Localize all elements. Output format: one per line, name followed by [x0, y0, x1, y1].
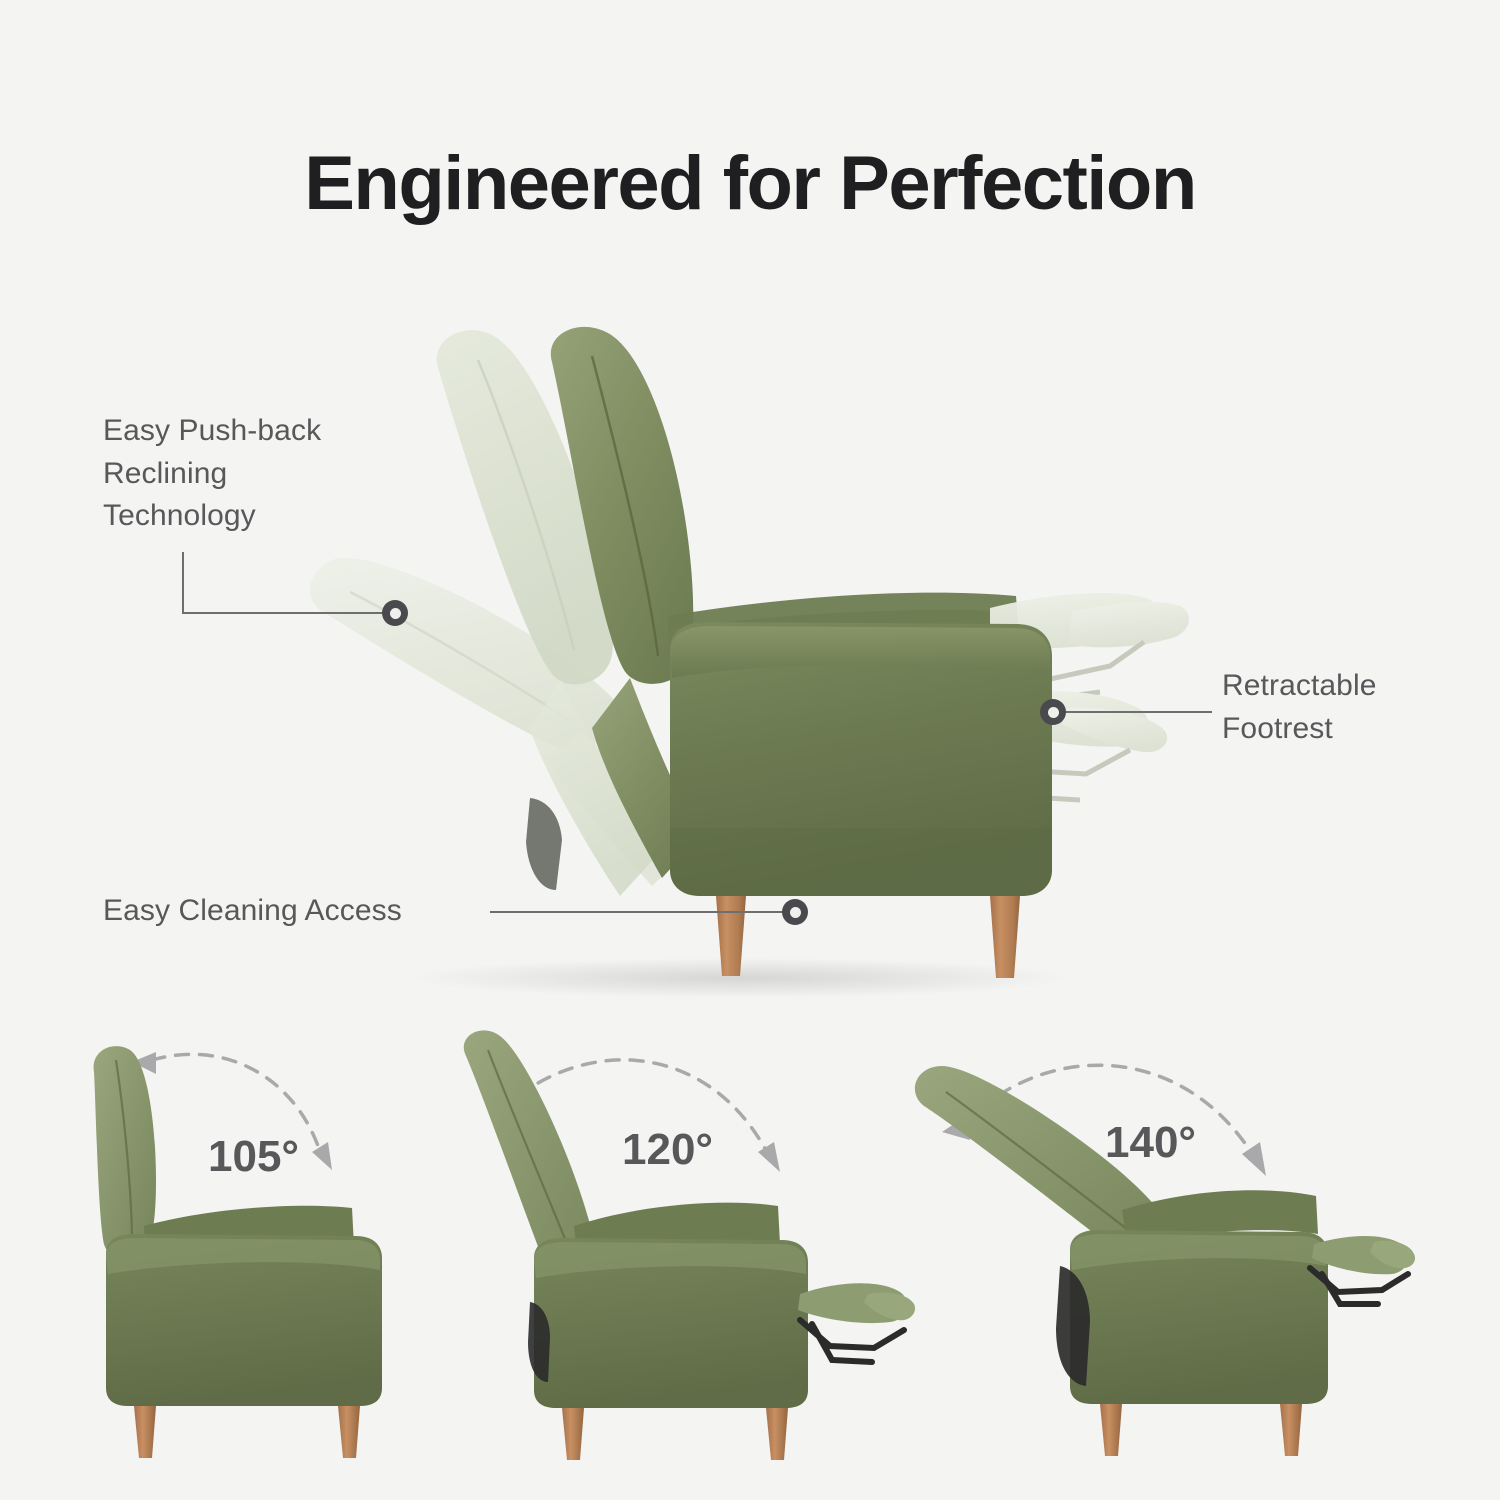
arc-arrow-end-105	[312, 1142, 332, 1170]
callout-cleaning-label: Easy Cleaning Access	[103, 890, 523, 933]
angle-label-140: 140°	[1105, 1118, 1196, 1168]
recliner-mechanism-shadow	[526, 798, 562, 890]
leader-line-cleaning	[490, 911, 790, 913]
arc-arrow-end-140	[1242, 1142, 1266, 1176]
leader-line-push-back-vertical	[182, 552, 184, 614]
callout-footrest-label: Retractable Footrest	[1222, 665, 1482, 750]
angle-label-120: 120°	[622, 1125, 713, 1175]
marker-dot-cleaning[interactable]	[782, 899, 808, 925]
angle-panel-105: 105°	[60, 1030, 500, 1460]
panel2-footrest	[798, 1283, 915, 1362]
panel2-footrest-mechanism	[800, 1320, 904, 1362]
angle-panel-140: 140°	[950, 1030, 1390, 1460]
leader-line-push-back-horizontal	[182, 612, 394, 614]
panel2-legs	[562, 1408, 788, 1460]
panel1-legs	[134, 1406, 360, 1458]
marker-dot-footrest[interactable]	[1040, 699, 1066, 725]
callout-push-back-label: Easy Push-back Reclining Technology	[103, 410, 433, 538]
panel3-legs	[1100, 1404, 1302, 1456]
marker-dot-push-back[interactable]	[382, 600, 408, 626]
angle-panel-120: 120°	[470, 1030, 910, 1460]
page-title: Engineered for Perfection	[0, 140, 1500, 227]
angle-label-105: 105°	[208, 1132, 299, 1182]
leader-line-footrest	[1062, 711, 1212, 713]
arc-arrow-end-120	[758, 1142, 780, 1172]
chair-body	[670, 622, 1052, 896]
infographic-page: Engineered for Perfection	[0, 0, 1500, 1500]
